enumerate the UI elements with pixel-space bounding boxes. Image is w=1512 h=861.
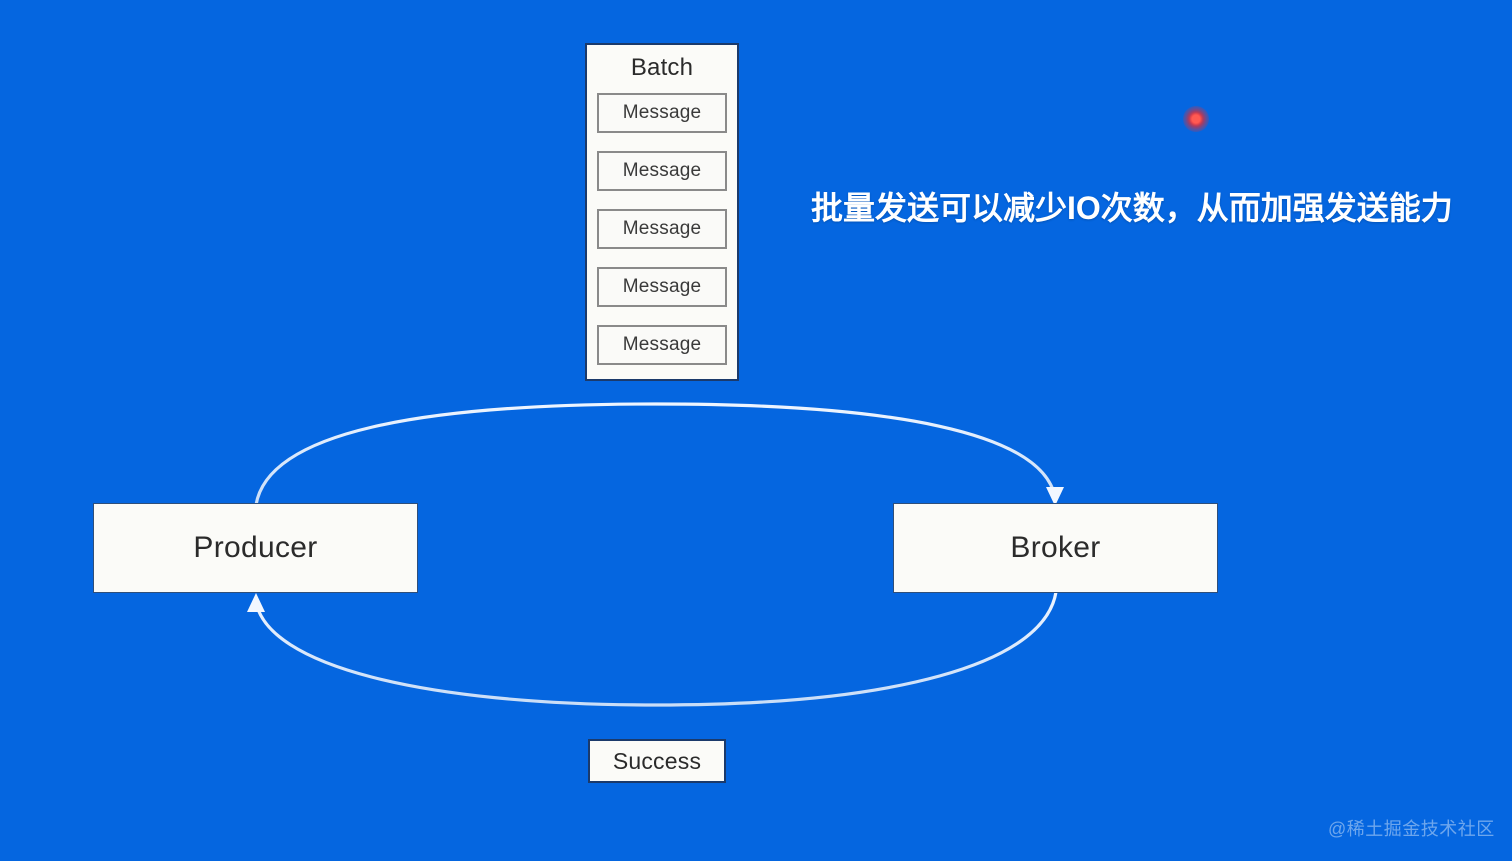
- record-dot-core-icon: [1192, 115, 1200, 123]
- slide-canvas: Batch Message Message Message Message Me…: [0, 0, 1512, 861]
- record-dot-icon: [1183, 106, 1209, 132]
- broker-label: Broker: [1010, 531, 1100, 565]
- message-item: Message: [597, 325, 727, 365]
- broker-node: Broker: [893, 503, 1218, 593]
- message-item: Message: [597, 93, 727, 133]
- arrow-layer: [0, 0, 1512, 861]
- producer-node: Producer: [93, 503, 418, 593]
- arrowhead-to-producer: [247, 593, 265, 612]
- message-item: Message: [597, 151, 727, 191]
- message-label: Message: [623, 276, 702, 298]
- message-label: Message: [623, 218, 702, 240]
- arc-producer-to-broker: [256, 404, 1055, 505]
- message-item: Message: [597, 267, 727, 307]
- batch-title: Batch: [597, 53, 727, 83]
- watermark-text: @稀土掘金技术社区: [1328, 815, 1495, 841]
- message-item: Message: [597, 209, 727, 249]
- success-label: Success: [613, 748, 701, 775]
- success-node: Success: [588, 739, 726, 783]
- message-label: Message: [623, 334, 702, 356]
- message-label: Message: [623, 160, 702, 182]
- caption-text: 批量发送可以减少IO次数，从而加强发送能力: [811, 186, 1451, 230]
- message-label: Message: [623, 102, 702, 124]
- producer-label: Producer: [193, 531, 317, 565]
- arc-broker-to-producer: [256, 592, 1056, 705]
- batch-container: Batch Message Message Message Message Me…: [585, 43, 739, 381]
